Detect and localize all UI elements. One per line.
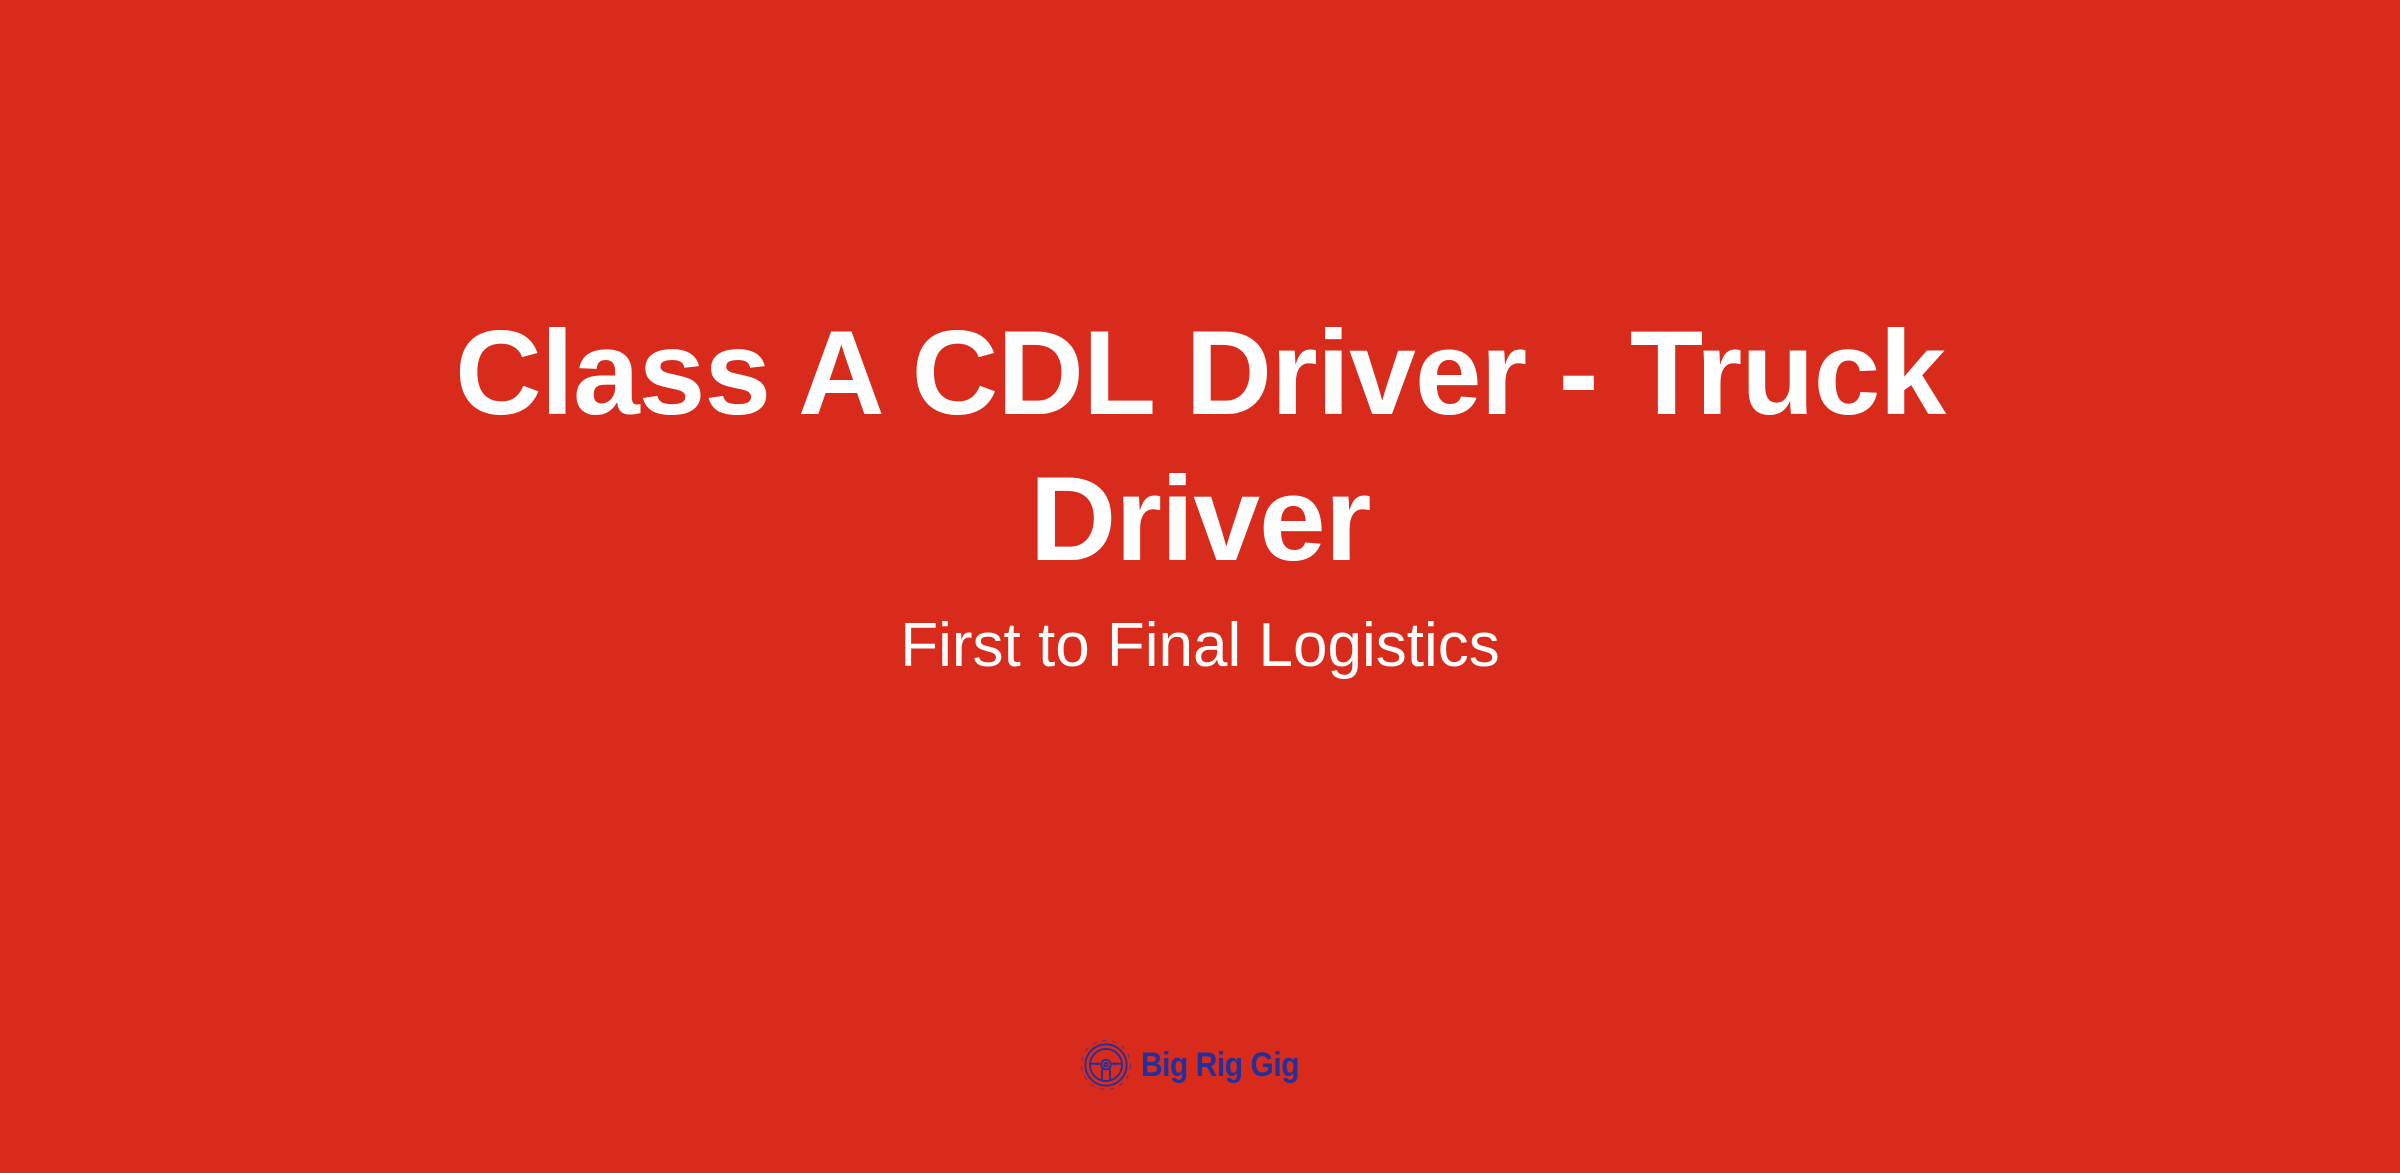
page-title: Class A CDL Driver - Truck Driver (450, 300, 1950, 593)
hero-section: Class A CDL Driver - Truck Driver First … (0, 300, 2400, 684)
company-name: First to Final Logistics (900, 607, 1500, 685)
steering-wheel-icon (1079, 1038, 1133, 1092)
brand-wordmark: Big Rig Gig (1141, 1048, 1299, 1082)
brand-logo: Big Rig Gig (0, 1038, 2400, 1092)
job-posting-card: Class A CDL Driver - Truck Driver First … (0, 0, 2400, 1173)
